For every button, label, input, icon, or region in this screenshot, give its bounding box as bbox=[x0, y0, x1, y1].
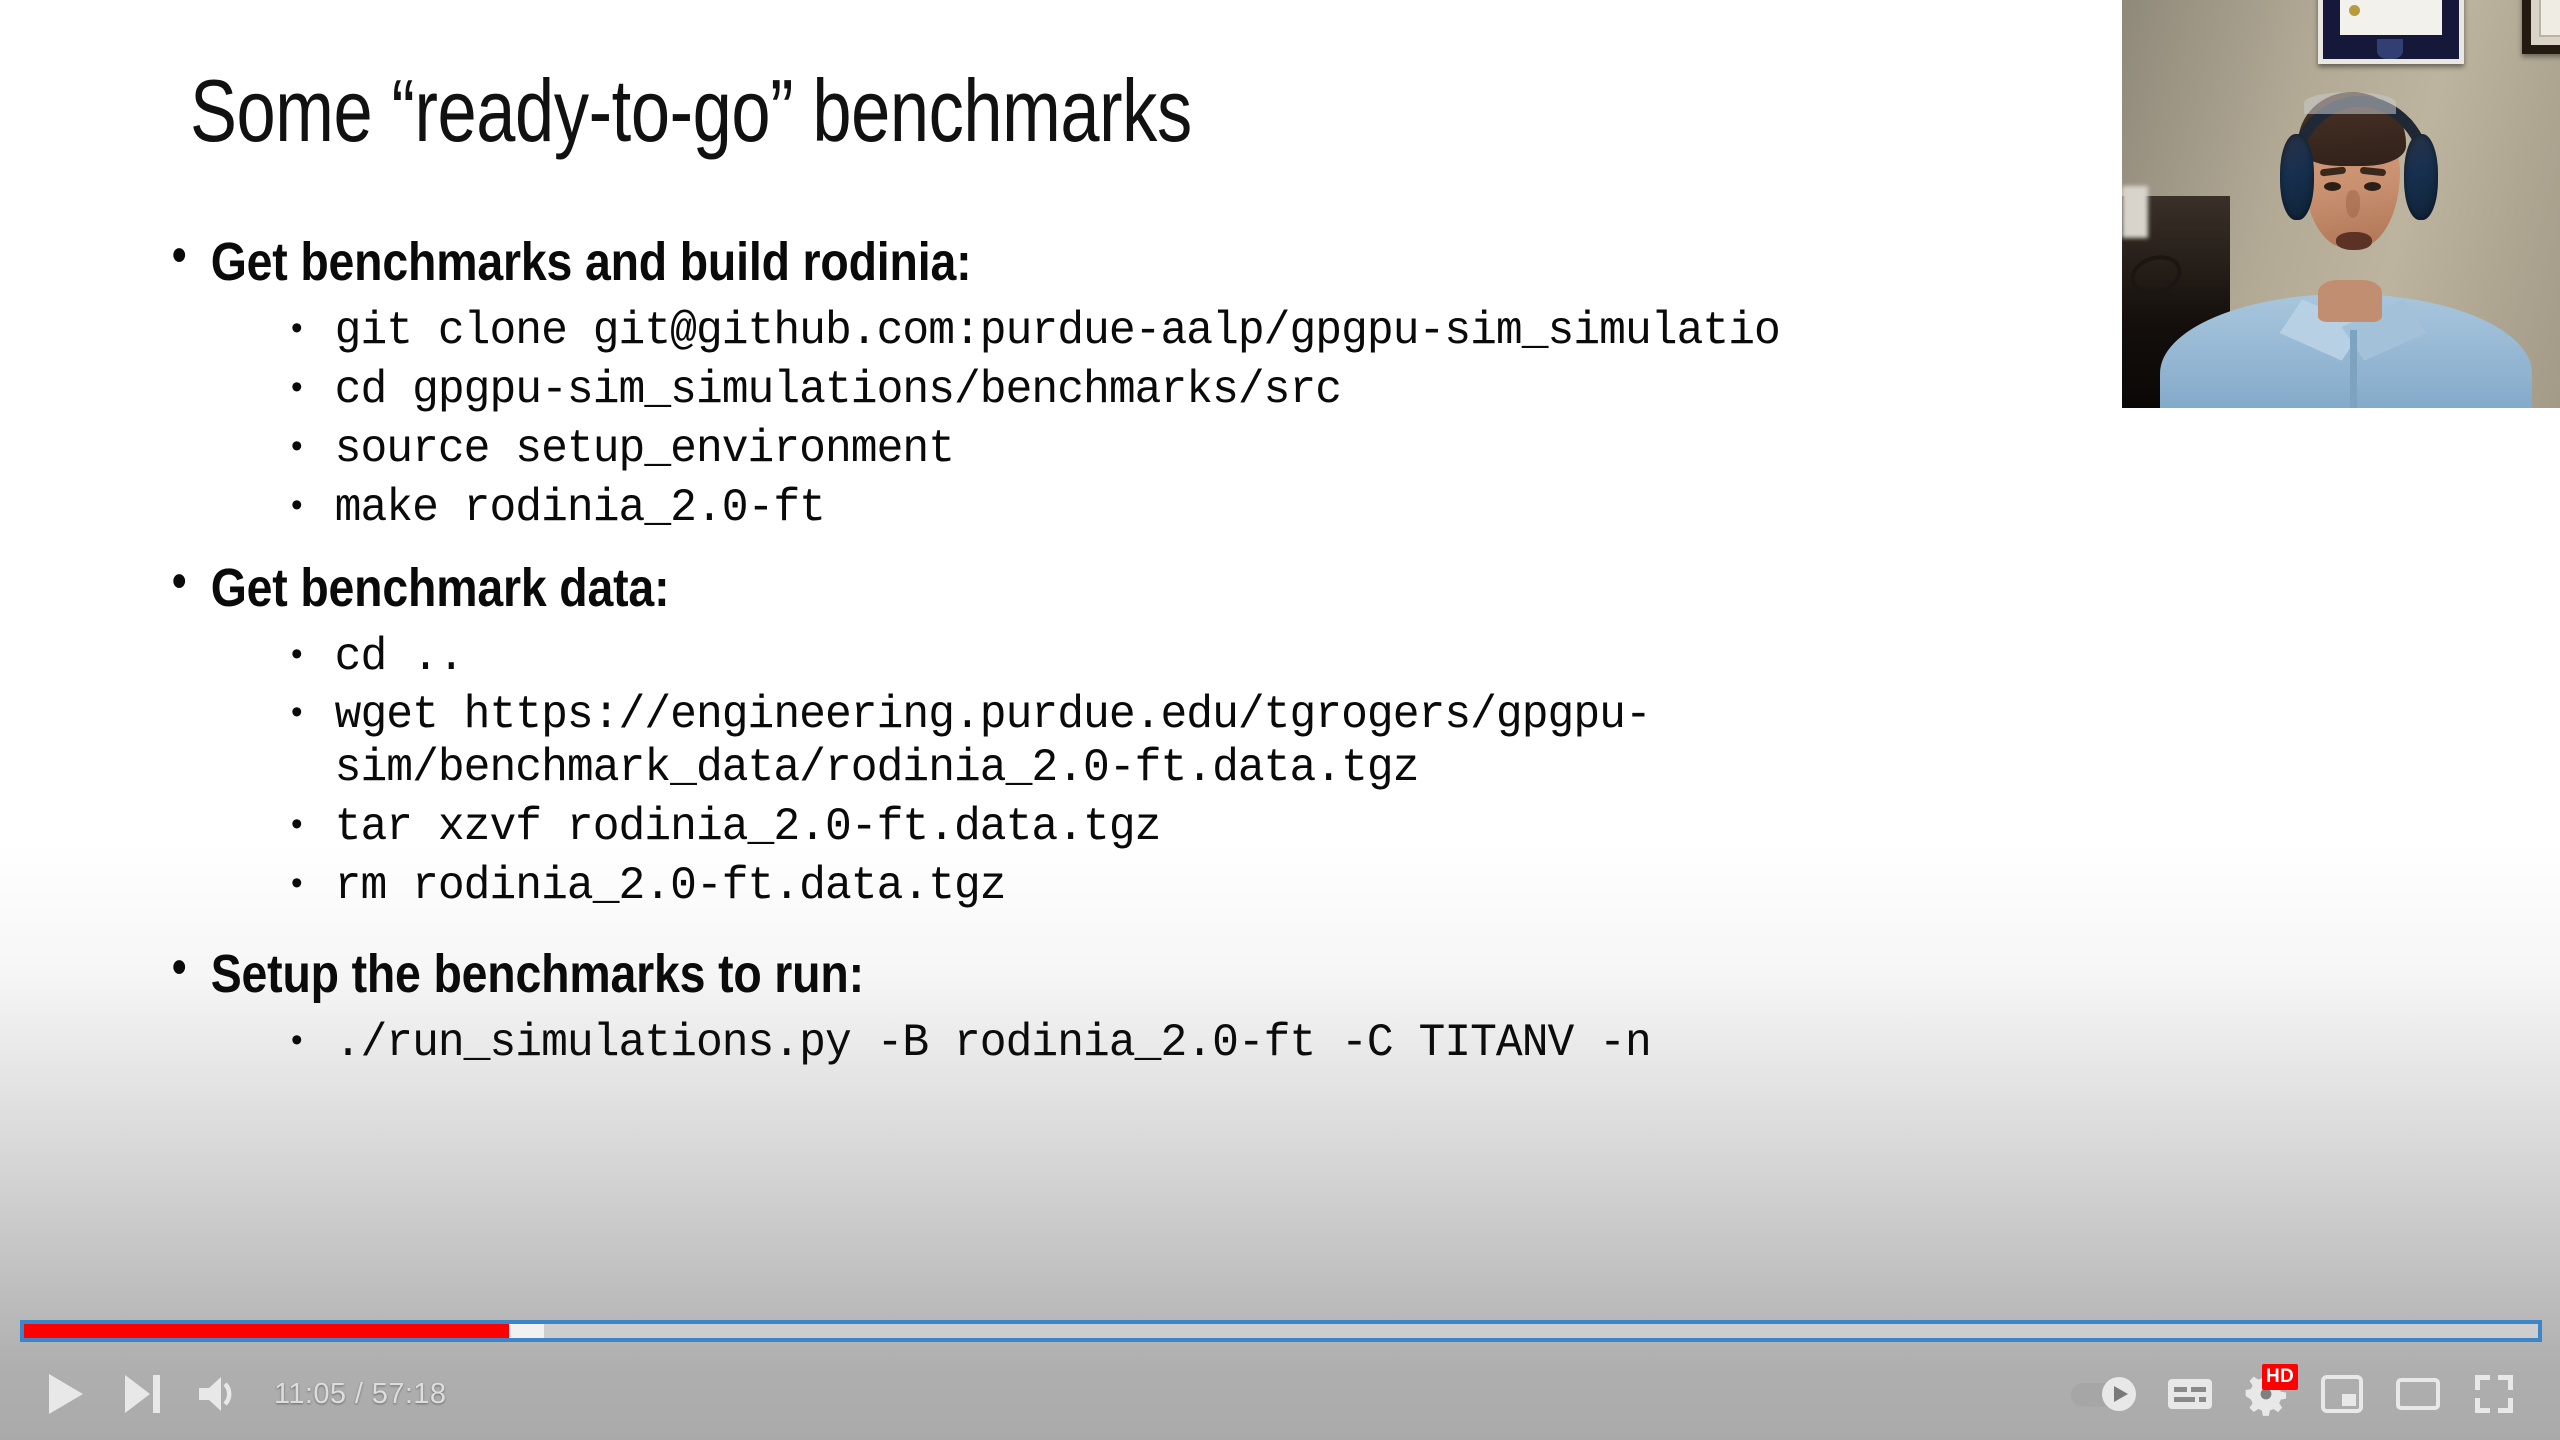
time-display: 11:05 / 57:18 bbox=[274, 1378, 446, 1411]
miniplayer-button[interactable] bbox=[2304, 1356, 2380, 1432]
presenter-eye-right bbox=[2364, 182, 2381, 191]
player-controls-right: HD bbox=[2060, 1356, 2532, 1432]
webcam-paper-stack bbox=[2122, 186, 2148, 238]
wall-certificate-frame bbox=[2318, 0, 2464, 64]
bullet-level2-code: rm rodinia_2.0-ft.data.tgz bbox=[0, 860, 2483, 913]
next-button[interactable] bbox=[104, 1356, 180, 1432]
presenter-eye-left bbox=[2324, 182, 2341, 191]
play-button[interactable] bbox=[28, 1356, 104, 1432]
presenter-shirt-placket bbox=[2350, 330, 2357, 408]
settings-button[interactable]: HD bbox=[2228, 1356, 2304, 1432]
headphone-earcup-left bbox=[2280, 134, 2314, 220]
volume-button[interactable] bbox=[180, 1356, 256, 1432]
presenter-nose bbox=[2346, 190, 2360, 218]
bullet-level1: Get benchmarks and build rodinia: bbox=[0, 235, 2202, 289]
bullet-level2-code: ./run_simulations.py -B rodinia_2.0-ft -… bbox=[0, 1017, 2483, 1070]
bullet-level2-code: cd .. bbox=[0, 631, 2483, 684]
presenter-webcam-overlay bbox=[2122, 0, 2560, 408]
progress-bar-played bbox=[24, 1324, 509, 1338]
player-controls-bar[interactable]: 11:05 / 57:18 bbox=[0, 1348, 2560, 1440]
bullet-level1: Setup the benchmarks to run: bbox=[0, 947, 2202, 1001]
progress-bar[interactable] bbox=[0, 1316, 2560, 1348]
certificate-crest bbox=[2377, 39, 2403, 59]
bullet-level2-code: tar xzvf rodinia_2.0-ft.data.tgz bbox=[0, 801, 2483, 854]
bullet-level2-code: wget https://engineering.purdue.edu/tgro… bbox=[0, 689, 1984, 795]
autoplay-toggle[interactable] bbox=[2060, 1356, 2152, 1432]
theater-button[interactable] bbox=[2380, 1356, 2456, 1432]
subtitles-button[interactable] bbox=[2152, 1356, 2228, 1432]
headphone-band-pad bbox=[2304, 92, 2396, 114]
bullet-level2-code: cd gpgpu-sim_simulations/benchmarks/src bbox=[0, 364, 2483, 417]
picture-frame-inner bbox=[2539, 0, 2560, 37]
fullscreen-button[interactable] bbox=[2456, 1356, 2532, 1432]
bullet-level2-code: source setup_environment bbox=[0, 423, 2483, 476]
wall-picture-frame bbox=[2522, 0, 2560, 54]
progress-bar-track[interactable] bbox=[24, 1324, 2538, 1338]
certificate-seal bbox=[2349, 5, 2360, 16]
video-player[interactable]: Some “ready-to-go” benchmarks Get benchm… bbox=[0, 0, 2560, 1440]
headphone-earcup-right bbox=[2404, 134, 2438, 220]
bullet-level2-code: make rodinia_2.0-ft bbox=[0, 482, 2483, 535]
bullet-level1: Get benchmark data: bbox=[0, 561, 2202, 615]
player-controls-left: 11:05 / 57:18 bbox=[28, 1356, 464, 1432]
bullet-level2-code: git clone git@github.com:purdue-aalp/gpg… bbox=[0, 305, 2483, 358]
hd-quality-badge: HD bbox=[2262, 1364, 2298, 1390]
page-title: Some “ready-to-go” benchmarks bbox=[190, 65, 1192, 157]
presenter-mouth bbox=[2336, 232, 2372, 250]
presenter-neck bbox=[2318, 280, 2382, 322]
